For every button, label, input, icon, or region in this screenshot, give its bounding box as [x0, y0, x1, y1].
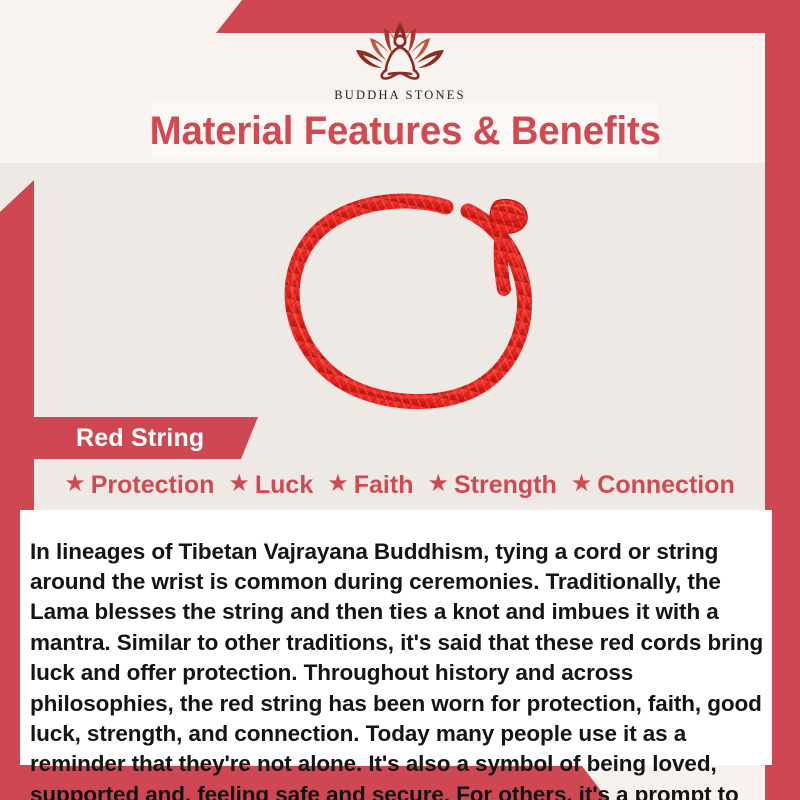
- benefit-label: Connection: [597, 471, 735, 500]
- benefit-item-faith: ★ Faith: [321, 471, 419, 500]
- benefit-label: Luck: [255, 471, 313, 500]
- material-ribbon: Red String: [19, 417, 258, 459]
- star-icon: ★: [327, 472, 349, 496]
- benefit-label: Strength: [454, 471, 557, 500]
- benefit-label: Faith: [354, 471, 414, 500]
- material-name: Red String: [76, 424, 204, 453]
- benefit-item-strength: ★ Strength: [421, 471, 562, 500]
- benefit-label: Protection: [91, 471, 215, 500]
- star-icon: ★: [571, 472, 593, 496]
- brand-logo: BUDDHA STONES: [0, 16, 800, 103]
- benefit-list: ★ Protection ★ Luck ★ Faith ★ Strength ★…: [34, 466, 765, 504]
- red-string-bracelet-image: [250, 171, 590, 421]
- infographic-card: BUDDHA STONES Material Features & Benefi…: [0, 0, 800, 800]
- star-icon: ★: [64, 472, 86, 496]
- description-panel: In lineages of Tibetan Vajrayana Buddhis…: [20, 510, 772, 765]
- product-image-area: [34, 163, 765, 418]
- title-band: Material Features & Benefits: [152, 103, 658, 159]
- benefit-item-luck: ★ Luck: [222, 471, 319, 500]
- lotus-meditation-icon: [334, 16, 466, 86]
- star-icon: ★: [427, 472, 449, 496]
- star-icon: ★: [228, 472, 250, 496]
- benefit-item-connection: ★ Connection: [565, 471, 741, 500]
- page-title: Material Features & Benefits: [149, 109, 660, 154]
- brand-name: BUDDHA STONES: [334, 88, 466, 103]
- benefit-item-protection: ★ Protection: [58, 471, 220, 500]
- description-text: In lineages of Tibetan Vajrayana Buddhis…: [30, 537, 768, 800]
